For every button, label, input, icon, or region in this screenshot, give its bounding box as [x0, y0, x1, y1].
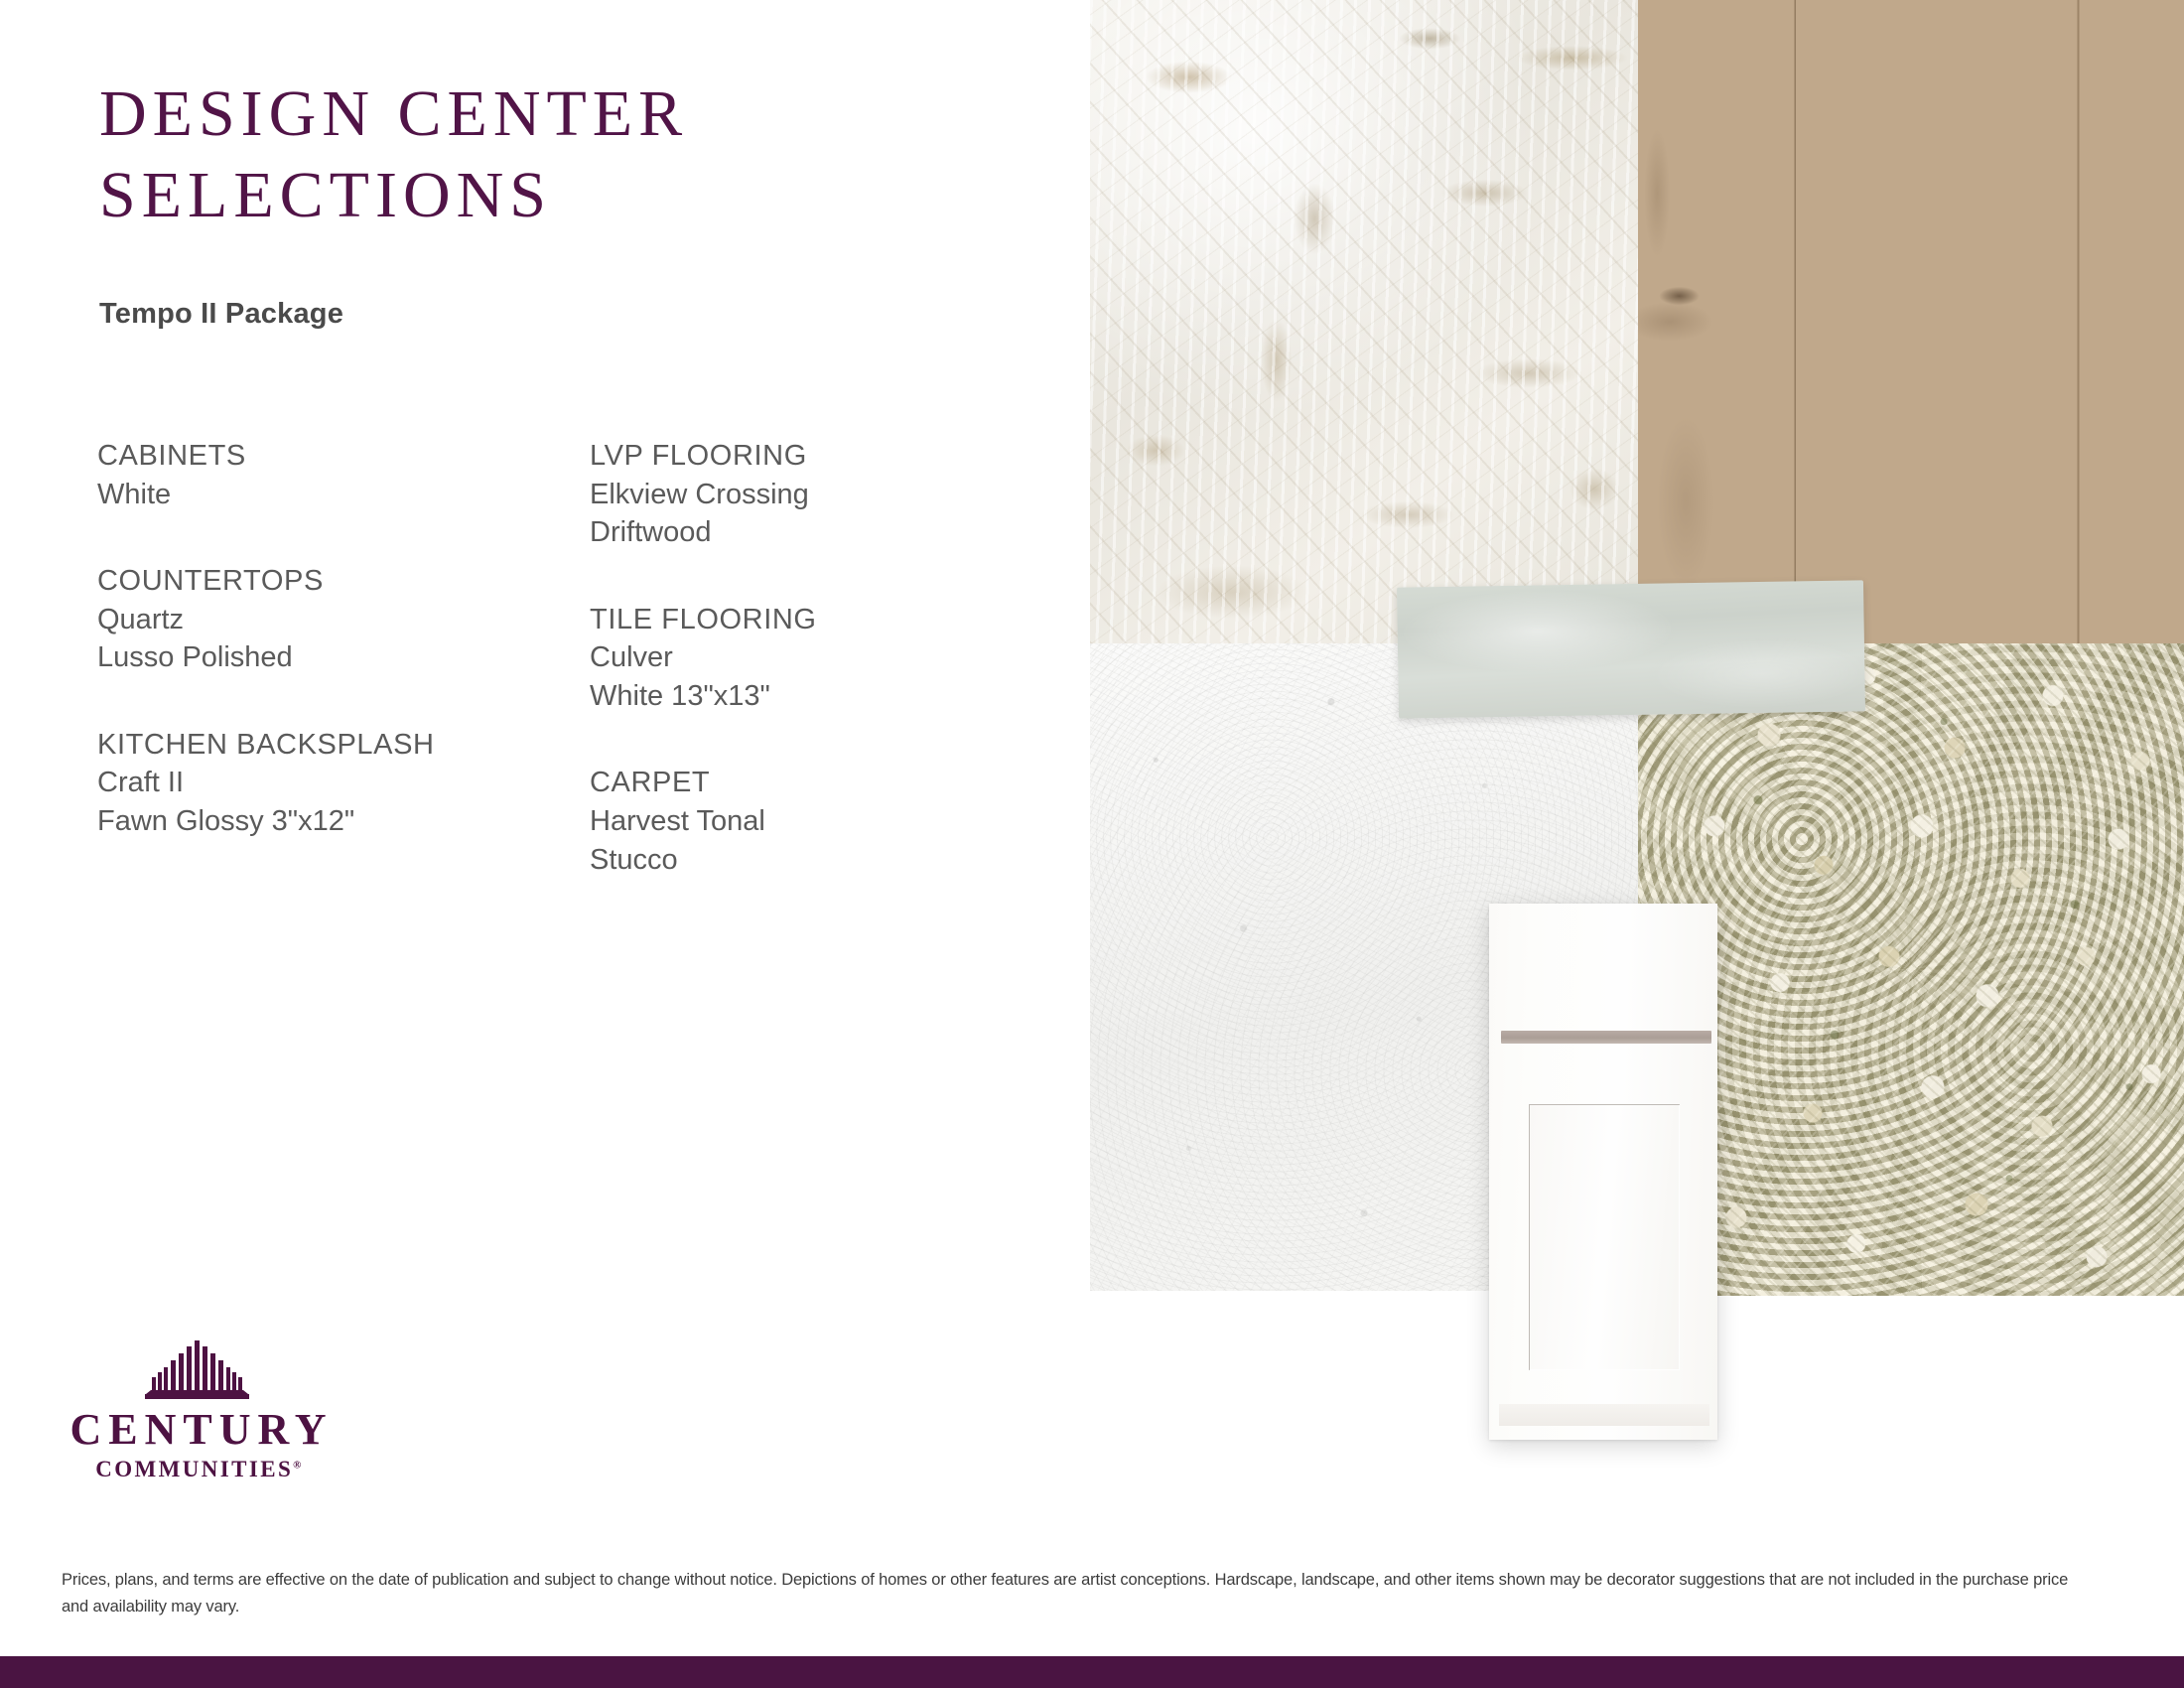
page-title-line-1: DESIGN CENTER [99, 77, 688, 150]
century-communities-logo: CENTURY COMMUNITIES® [62, 1338, 335, 1487]
footer-accent-bar [0, 1656, 2184, 1688]
logo-wordmark: CENTURY [62, 1408, 335, 1452]
selection-value: Driftwood [590, 513, 1007, 552]
selection-label: COUNTERTOPS [97, 562, 514, 601]
selection-group-countertops: COUNTERTOPS Quartz Lusso Polished [97, 562, 514, 677]
selections-list: CABINETS White COUNTERTOPS Quartz Lusso … [97, 437, 1011, 879]
registered-trademark-icon: ® [293, 1459, 304, 1471]
cabinet-bottom-rail [1499, 1404, 1709, 1426]
package-subtitle: Tempo II Package [99, 298, 343, 331]
page-title: DESIGN CENTER SELECTIONS [99, 81, 993, 228]
selection-value: Stucco [590, 841, 1007, 880]
lvp-wood-flooring-swatch [1638, 0, 2184, 643]
page-title-line-2: SELECTIONS [99, 163, 993, 228]
century-building-skyline-icon [140, 1338, 257, 1406]
selection-value: Elkview Crossing [590, 476, 1007, 514]
selection-group-lvp-flooring: LVP FLOORING Elkview Crossing Driftwood [590, 437, 1007, 552]
logo-tagline-text: COMMUNITIES [95, 1457, 293, 1481]
cabinet-drawer-reveal [1501, 1031, 1711, 1044]
selections-left-column: CABINETS White COUNTERTOPS Quartz Lusso … [97, 437, 514, 879]
quartz-countertop-swatch [1090, 0, 1638, 643]
selection-value: Quartz [97, 601, 514, 639]
backsplash-tile-swatch [1397, 580, 1865, 718]
selection-group-kitchen-backsplash: KITCHEN BACKSPLASH Craft II Fawn Glossy … [97, 726, 514, 841]
cabinet-door-swatch [1489, 904, 1717, 1440]
selections-right-column: LVP FLOORING Elkview Crossing Driftwood … [590, 437, 1007, 879]
selection-value: White [97, 476, 514, 514]
selection-label: KITCHEN BACKSPLASH [97, 726, 514, 765]
selection-value: Fawn Glossy 3"x12" [97, 802, 514, 841]
legal-disclaimer: Prices, plans, and terms are effective o… [62, 1567, 2077, 1619]
selection-label: CARPET [590, 764, 1007, 802]
selection-group-carpet: CARPET Harvest Tonal Stucco [590, 764, 1007, 879]
material-collage [1090, 0, 2184, 1450]
selection-group-tile-flooring: TILE FLOORING Culver White 13"x13" [590, 601, 1007, 716]
selection-value: Culver [590, 638, 1007, 677]
logo-tagline: COMMUNITIES® [62, 1458, 335, 1480]
selection-label: CABINETS [97, 437, 514, 476]
selection-label: LVP FLOORING [590, 437, 1007, 476]
selection-value: Lusso Polished [97, 638, 514, 677]
selection-label: TILE FLOORING [590, 601, 1007, 639]
selection-value: White 13"x13" [590, 677, 1007, 716]
selection-value: Harvest Tonal [590, 802, 1007, 841]
carpet-swatch [1638, 643, 2184, 1296]
selection-group-cabinets: CABINETS White [97, 437, 514, 513]
cabinet-recessed-panel [1529, 1104, 1680, 1370]
selection-value: Craft II [97, 764, 514, 802]
